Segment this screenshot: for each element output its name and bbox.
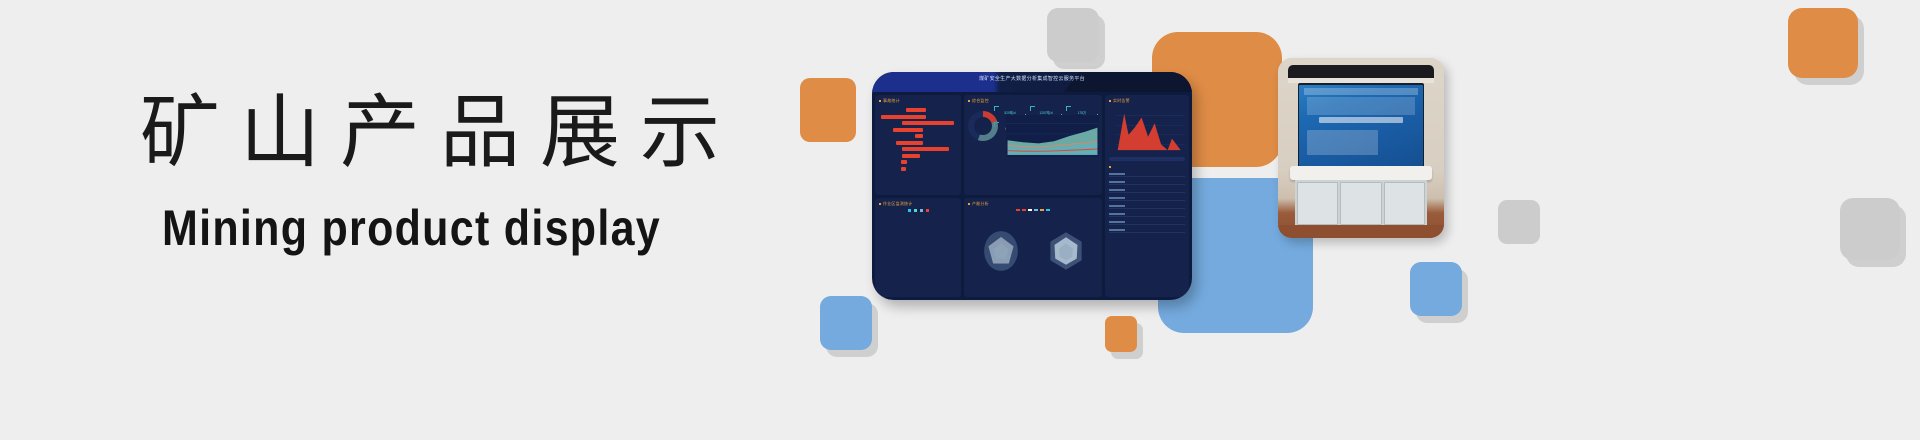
gauge-chart <box>968 111 998 141</box>
page-subtitle-english: Mining product display <box>162 200 676 256</box>
chart-environment-area <box>1006 115 1099 157</box>
photo-console-top <box>1290 166 1433 180</box>
photo-tv-display <box>1298 83 1424 168</box>
photo-tv-graphic <box>1307 130 1378 154</box>
bar-item <box>902 147 949 151</box>
radar-left <box>978 228 1024 274</box>
deco-square-orange-topright <box>1788 8 1858 78</box>
dashboard-mockup: 煤矿安全生产大数据分析集成智控云服务平台 事故统计 <box>872 72 1192 300</box>
list-item[interactable] <box>1109 196 1185 201</box>
legend-zone-monitoring <box>879 209 957 212</box>
legend-item <box>926 209 929 212</box>
photo-console-cabinet <box>1295 180 1428 227</box>
photo-tv-toolbar <box>1304 88 1417 95</box>
legend-item <box>920 209 923 212</box>
deco-square-blue-bottom <box>820 296 872 350</box>
bar-item <box>893 128 923 132</box>
bar-item <box>901 160 907 164</box>
photo-tv-headline <box>1319 117 1403 123</box>
panel-header-alarms: 实时告警 <box>1109 98 1185 104</box>
list-item[interactable] <box>1109 220 1185 225</box>
bar-item <box>902 121 953 125</box>
mining-product-banner: 矿山产品展示 Mining product display 煤矿安全生产大数据分… <box>0 0 1920 440</box>
list-item[interactable] <box>1109 172 1185 177</box>
list-item[interactable] <box>1109 228 1185 233</box>
bar-item <box>902 154 919 158</box>
exhibition-room-photo <box>1278 58 1444 238</box>
list-item[interactable] <box>1109 204 1185 209</box>
legend-capacity <box>968 209 1098 212</box>
chart-capacity-radar <box>968 213 1098 285</box>
list-item[interactable] <box>1109 180 1185 185</box>
legend-item <box>914 209 917 212</box>
photo-floor <box>1278 225 1444 238</box>
deco-square-orange-left <box>800 78 856 142</box>
list-item[interactable] <box>1109 188 1185 193</box>
dashboard-panel-grid: 事故统计 作业区监测统计 <box>872 92 1192 300</box>
panel-capacity-analysis: 产能分析 <box>964 198 1102 298</box>
panel-header-radar: 产能分析 <box>968 201 1098 207</box>
legend-item <box>908 209 911 212</box>
cabinet-door <box>1297 182 1339 225</box>
panel-zone-monitoring: 作业区监测统计 <box>875 198 961 298</box>
alarm-list <box>1109 172 1185 233</box>
chart-accident-horizontal-bar <box>879 106 957 195</box>
bar-item <box>901 167 906 171</box>
page-title-chinese: 矿山产品展示 <box>140 86 760 182</box>
panel-header-center: 综合监控 <box>968 98 1098 104</box>
chart-alarm-mini-area <box>1109 106 1185 154</box>
panel-integrated-monitoring: 综合监控 529吨/d 1257吨/d 178万 63.2万 48.5万吨 3,… <box>964 95 1102 195</box>
panel-accident-statistics: 事故统计 <box>875 95 961 195</box>
radar-right <box>1043 228 1089 274</box>
deco-square-gray-mid <box>1498 200 1540 244</box>
panel-header-alarm-list <box>1109 164 1185 169</box>
bar-item <box>915 134 923 138</box>
dashboard-title: 煤矿安全生产大数据分析集成智控云服务平台 <box>872 75 1192 82</box>
bar-item <box>896 141 923 145</box>
bar-item <box>906 108 926 112</box>
cabinet-door <box>1340 182 1382 225</box>
chart-zone-vertical-bar <box>879 214 957 278</box>
panel-header-accident: 事故统计 <box>879 98 957 104</box>
deco-square-gray-bottomright <box>1840 198 1900 260</box>
deco-square-blue-far <box>1410 262 1462 316</box>
alarm-progress-bar[interactable] <box>1109 157 1185 161</box>
bar-item <box>881 115 926 119</box>
photo-tv-imagery <box>1307 97 1415 115</box>
cabinet-door <box>1384 182 1426 225</box>
deco-square-orange-small <box>1105 316 1137 352</box>
photo-tv-screen <box>1299 85 1422 167</box>
banner-text-block: 矿山产品展示 Mining product display <box>140 86 760 256</box>
panel-realtime-alarms: 实时告警 <box>1105 95 1189 297</box>
deco-square-gray-top <box>1047 8 1099 62</box>
list-item[interactable] <box>1109 212 1185 217</box>
panel-header-zone: 作业区监测统计 <box>879 201 957 207</box>
